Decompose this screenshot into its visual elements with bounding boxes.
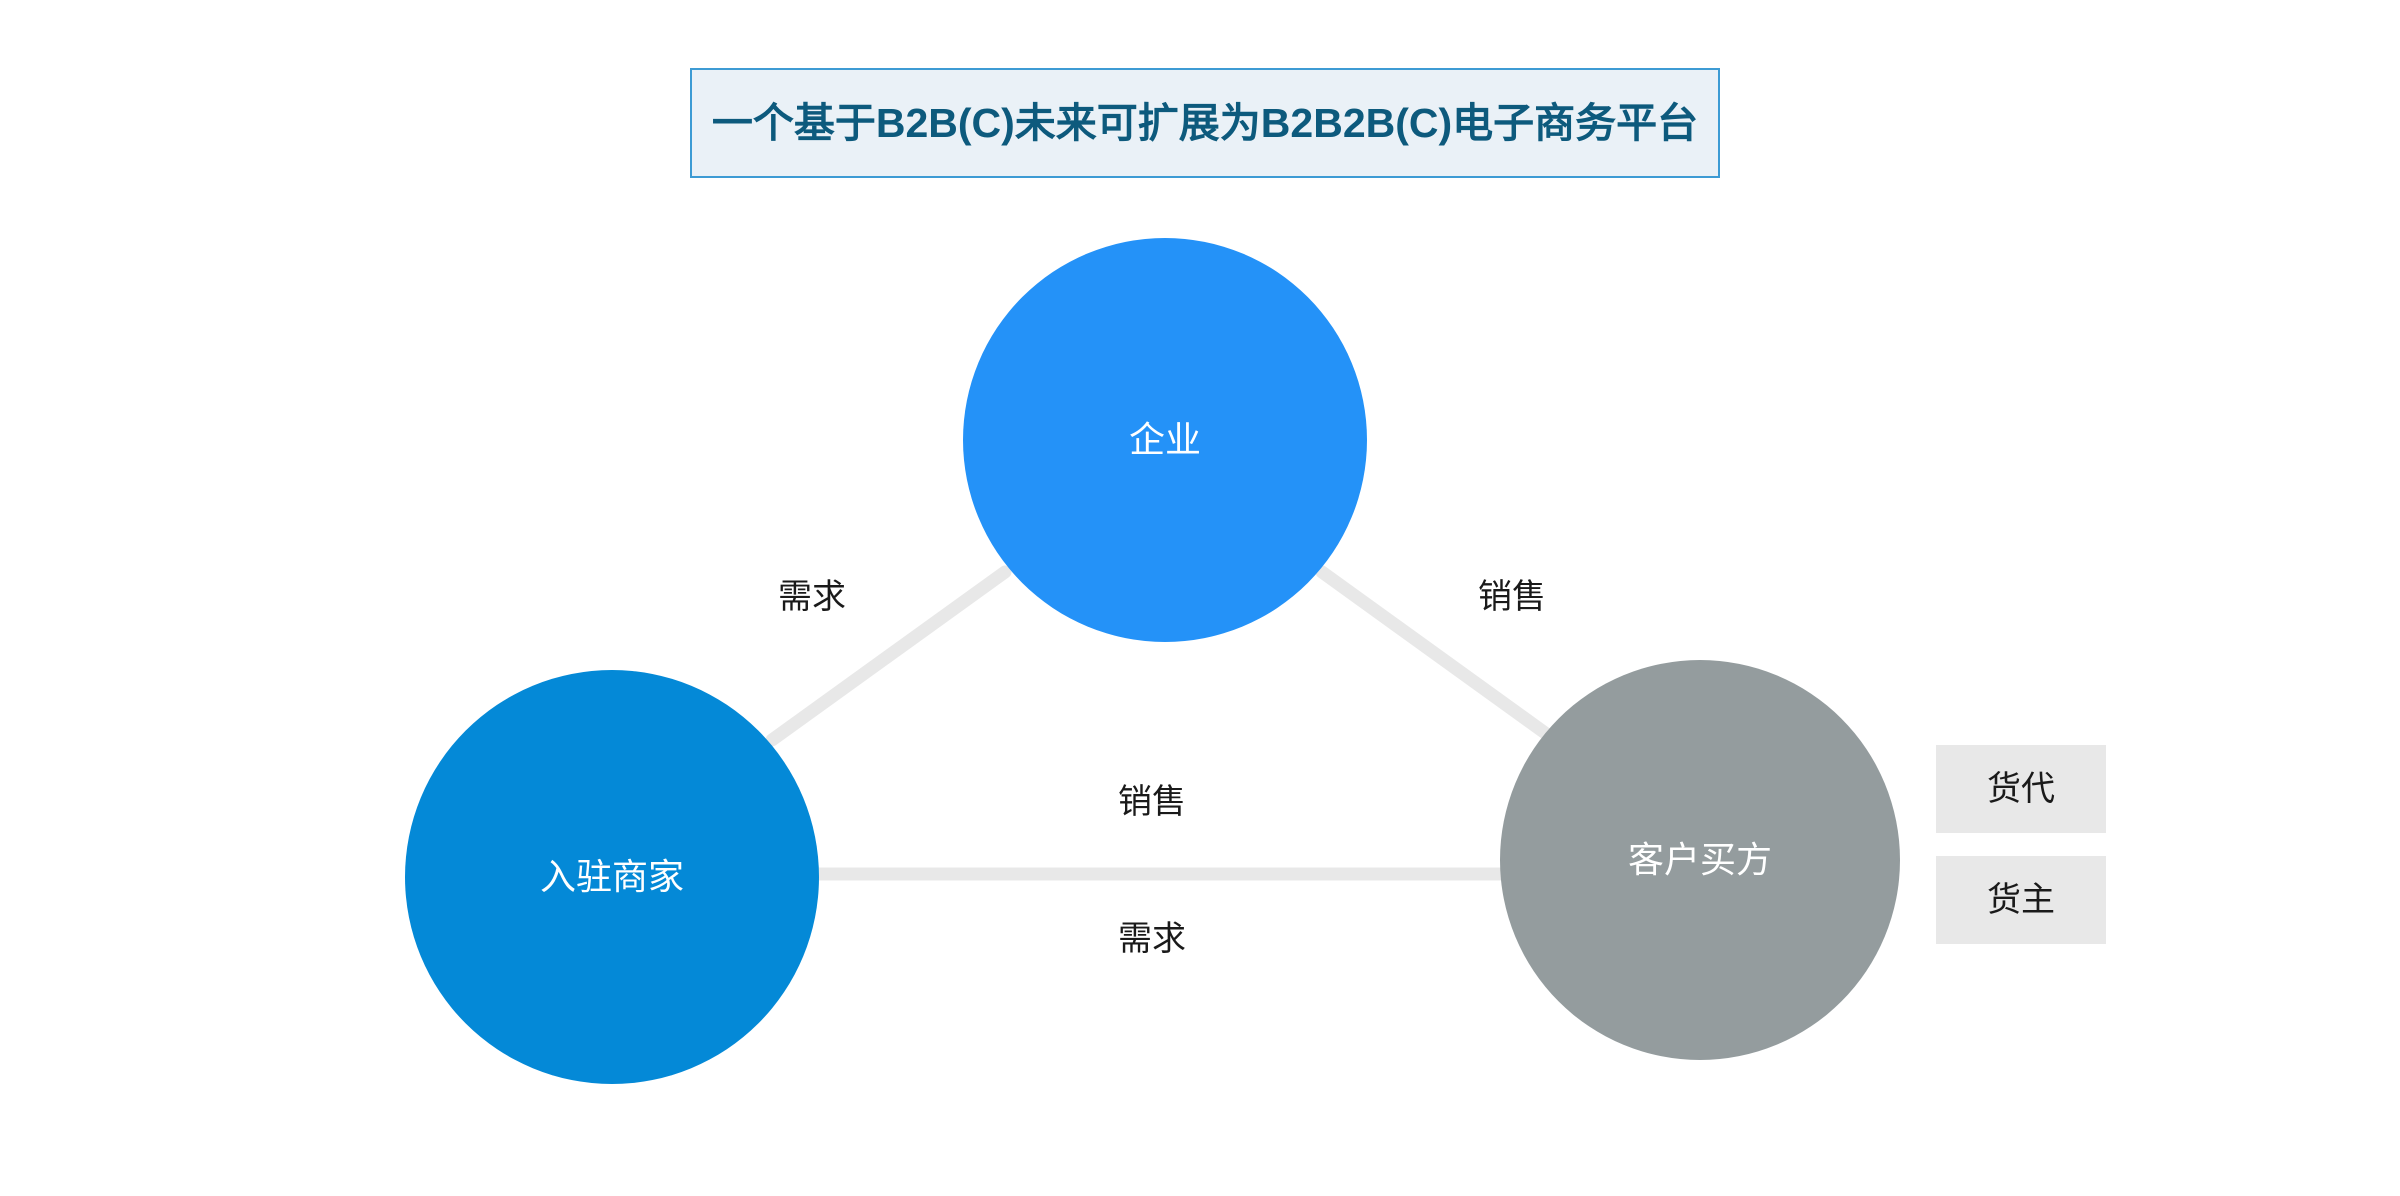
node-merchant-label: 入驻商家 <box>540 859 684 895</box>
node-merchant[interactable]: 入驻商家 <box>405 670 819 1084</box>
edge-label-merchant-enterprise: 需求 <box>778 580 846 614</box>
slide-canvas: 一个基于B2B(C)未来可扩展为B2B2B(C)电子商务平台 企业 入驻商家 客… <box>0 0 2400 1196</box>
node-enterprise[interactable]: 企业 <box>963 238 1367 642</box>
node-buyer[interactable]: 客户买方 <box>1500 660 1900 1060</box>
tag-freight-forwarder-label: 货代 <box>1987 772 2055 806</box>
edge-label-merchant-buyer-sales: 销售 <box>1118 785 1186 819</box>
edge-label-enterprise-buyer: 销售 <box>1478 580 1546 614</box>
node-enterprise-label: 企业 <box>1129 422 1201 458</box>
tag-cargo-owner-label: 货主 <box>1987 883 2055 917</box>
tag-cargo-owner[interactable]: 货主 <box>1936 856 2106 944</box>
tag-freight-forwarder[interactable]: 货代 <box>1936 745 2106 833</box>
node-buyer-label: 客户买方 <box>1628 842 1772 878</box>
edge-label-merchant-buyer-demand: 需求 <box>1118 922 1186 956</box>
